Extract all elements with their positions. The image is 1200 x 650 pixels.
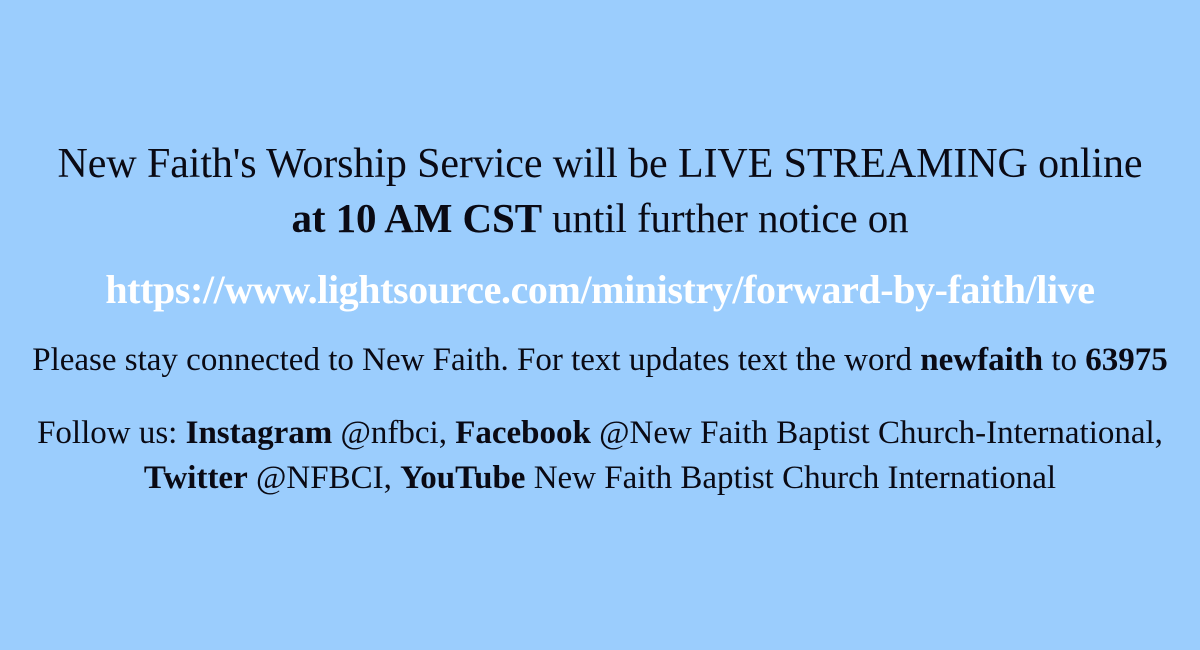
facebook-handle: @New Faith Baptist Church-International, (591, 415, 1163, 451)
headline-line-2: at 10 AM CST until further notice on (20, 192, 1180, 244)
text-updates-block: Please stay connected to New Faith. For … (10, 340, 1190, 381)
livestream-url[interactable]: https://www.lightsource.com/ministry/for… (105, 266, 1094, 314)
youtube-handle: New Faith Baptist Church International (525, 460, 1056, 496)
youtube-label: YouTube (400, 460, 525, 496)
headline-block: New Faith's Worship Service will be LIVE… (20, 138, 1180, 244)
content-stack: New Faith's Worship Service will be LIVE… (0, 0, 1200, 650)
headline-line-1: New Faith's Worship Service will be LIVE… (20, 138, 1180, 192)
follow-us-label: Follow us: (37, 415, 186, 451)
text-updates-keyword: newfaith (920, 342, 1043, 378)
text-updates-middle: to (1043, 342, 1085, 378)
follow-line-2: Twitter @NFBCI, YouTube New Faith Baptis… (10, 456, 1190, 501)
text-updates-prefix: Please stay connected to New Faith. For … (32, 342, 920, 378)
announcement-slide: New Faith's Worship Service will be LIVE… (0, 0, 1200, 650)
twitter-label: Twitter (144, 460, 248, 496)
instagram-label: Instagram (186, 415, 333, 451)
facebook-label: Facebook (455, 415, 591, 451)
follow-block: Follow us: Instagram @nfbci, Facebook @N… (10, 411, 1190, 500)
twitter-handle: @NFBCI, (248, 460, 400, 496)
text-updates-shortcode: 63975 (1085, 342, 1168, 378)
headline-line-2-rest: until further notice on (542, 195, 909, 241)
url-block: https://www.lightsource.com/ministry/for… (20, 266, 1180, 314)
follow-line-1: Follow us: Instagram @nfbci, Facebook @N… (10, 411, 1190, 456)
headline-time-emphasis: at 10 AM CST (291, 195, 542, 241)
instagram-handle: @nfbci, (332, 415, 455, 451)
